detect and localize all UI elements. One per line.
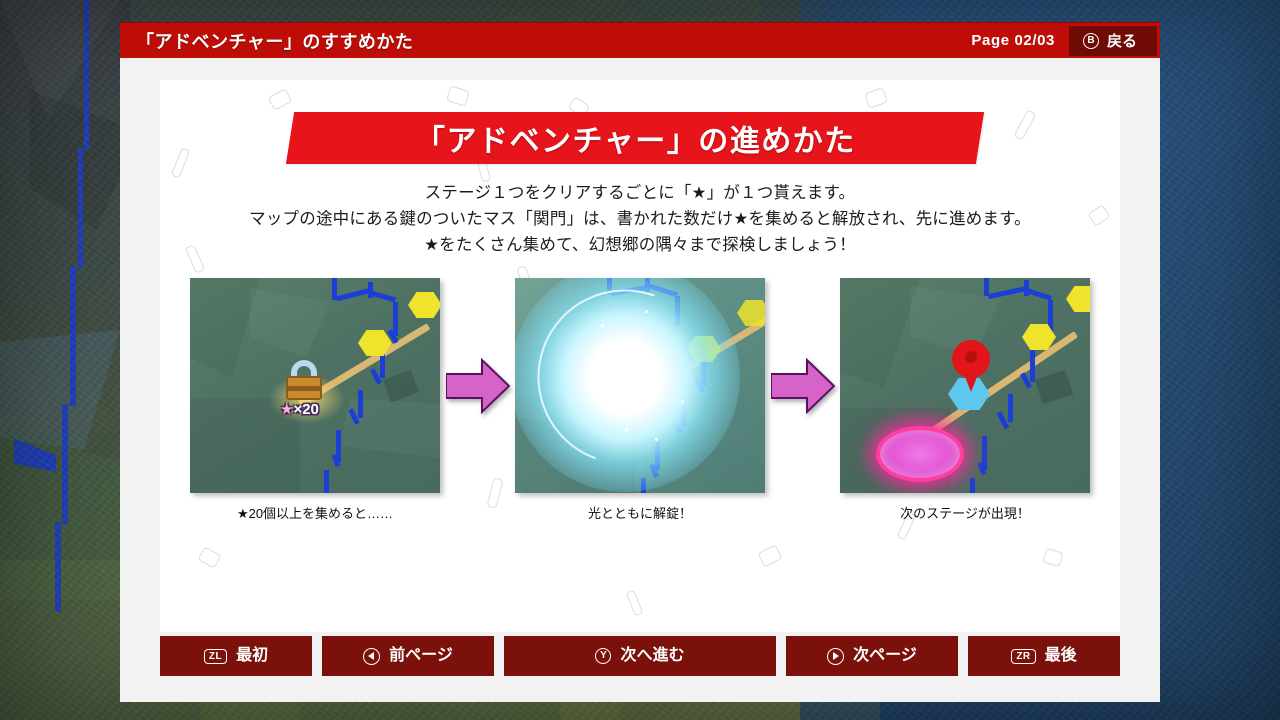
sparkle — [655, 438, 658, 441]
last-page-label: 最後 — [1045, 648, 1077, 664]
step-2-thumbnail — [515, 278, 765, 493]
map-river — [393, 302, 398, 336]
next-page-label: 次ページ — [853, 648, 917, 664]
next-page-button[interactable]: 次ページ — [786, 636, 958, 676]
sparkle — [681, 400, 684, 403]
b-button-icon: B — [1083, 33, 1099, 49]
decorative-shape — [171, 147, 191, 178]
arrow-2-wrap — [765, 278, 840, 493]
zr-button-icon: ZR — [1011, 649, 1035, 664]
description-line: ステージ１つをクリアするごとに「★」が１つ貰えます。 — [160, 180, 1120, 206]
step-1-thumbnail: ★×20 — [190, 278, 440, 493]
arrow-1-wrap — [440, 278, 515, 493]
map-river — [1008, 394, 1013, 422]
step-2-caption: 光とともに解錠！ — [588, 503, 692, 522]
right-arrow-icon — [446, 358, 510, 414]
help-panel: 「アドベンチャー」の進めかた ステージ１つをクリアするごとに「★」が１つ貰えます… — [120, 58, 1160, 702]
decorative-shape — [198, 546, 222, 568]
back-button[interactable]: B 戻る — [1069, 26, 1157, 56]
lock-body-icon — [286, 376, 322, 400]
description-line: ★をたくさん集めて、幻想郷の隅々まで探検しましょう！ — [160, 232, 1120, 258]
star-count-value: ×20 — [293, 401, 318, 418]
pin-hole — [965, 351, 977, 363]
star-icon: ★ — [280, 401, 293, 418]
first-page-label: 最初 — [236, 648, 268, 664]
step-1-caption: ★20個以上を集めると…… — [237, 503, 393, 522]
map-river — [1030, 350, 1035, 382]
sparkle — [601, 324, 604, 327]
map-river — [970, 478, 975, 493]
page-indicator: Page 02/03 — [971, 32, 1055, 49]
decorative-shape — [1014, 109, 1037, 140]
next-step-button[interactable]: Y 次へ進む — [504, 636, 776, 676]
previous-page-button[interactable]: 前ページ — [322, 636, 494, 676]
last-page-button[interactable]: ZR 最後 — [968, 636, 1120, 676]
section-banner-label: 「アドベンチャー」の進めかた — [415, 116, 856, 160]
header-right-group: Page 02/03 B 戻る — [971, 23, 1160, 58]
y-button-icon: Y — [595, 648, 611, 664]
sparkle — [645, 310, 648, 313]
step-2: 光とともに解錠！ — [515, 278, 765, 522]
previous-page-label: 前ページ — [389, 648, 453, 664]
decorative-shape — [268, 88, 293, 111]
decorative-shape — [446, 85, 470, 106]
first-page-button[interactable]: ZL 最初 — [160, 636, 312, 676]
left-arrow-icon — [363, 648, 380, 665]
page-title: 「アドベンチャー」のすすめかた — [136, 28, 413, 54]
right-arrow-icon — [771, 358, 835, 414]
step-3-caption: 次のステージが出現！ — [900, 503, 1030, 522]
back-button-label: 戻る — [1107, 30, 1137, 51]
steps-row: ★×20 ★20個以上を集めると…… — [160, 278, 1120, 528]
right-arrow-icon — [827, 648, 844, 665]
zl-button-icon: ZL — [204, 649, 227, 664]
next-step-label: 次へ進む — [620, 648, 684, 664]
step-1: ★×20 ★20個以上を集めると…… — [190, 278, 440, 522]
decorative-shape — [625, 589, 643, 616]
map-pin-icon — [952, 340, 990, 392]
decorative-shape — [758, 544, 783, 567]
map-river — [358, 390, 363, 418]
decorative-shape — [1042, 548, 1063, 567]
star-requirement-badge: ★×20 — [280, 400, 319, 418]
new-stage-portal — [876, 426, 964, 482]
description-line: マップの途中にある鍵のついたマス「関門」は、書かれた数だけ★を集めると解放され、… — [160, 206, 1120, 232]
description-block: ステージ１つをクリアするごとに「★」が１つ貰えます。 マップの途中にある鍵のつい… — [160, 180, 1120, 258]
map-river — [324, 470, 329, 493]
step-3-thumbnail — [840, 278, 1090, 493]
help-sheet: 「アドベンチャー」の進めかた ステージ１つをクリアするごとに「★」が１つ貰えます… — [160, 80, 1120, 632]
decorative-shape — [864, 87, 888, 109]
section-banner: 「アドベンチャー」の進めかた — [286, 112, 984, 164]
footer-button-bar: ZL 最初 前ページ Y 次へ進む 次ページ ZR 最後 — [160, 636, 1120, 676]
sparkle — [625, 428, 628, 431]
top-header-bar: 「アドベンチャー」のすすめかた Page 02/03 B 戻る — [120, 22, 1160, 58]
step-3: 次のステージが出現！ — [840, 278, 1090, 522]
